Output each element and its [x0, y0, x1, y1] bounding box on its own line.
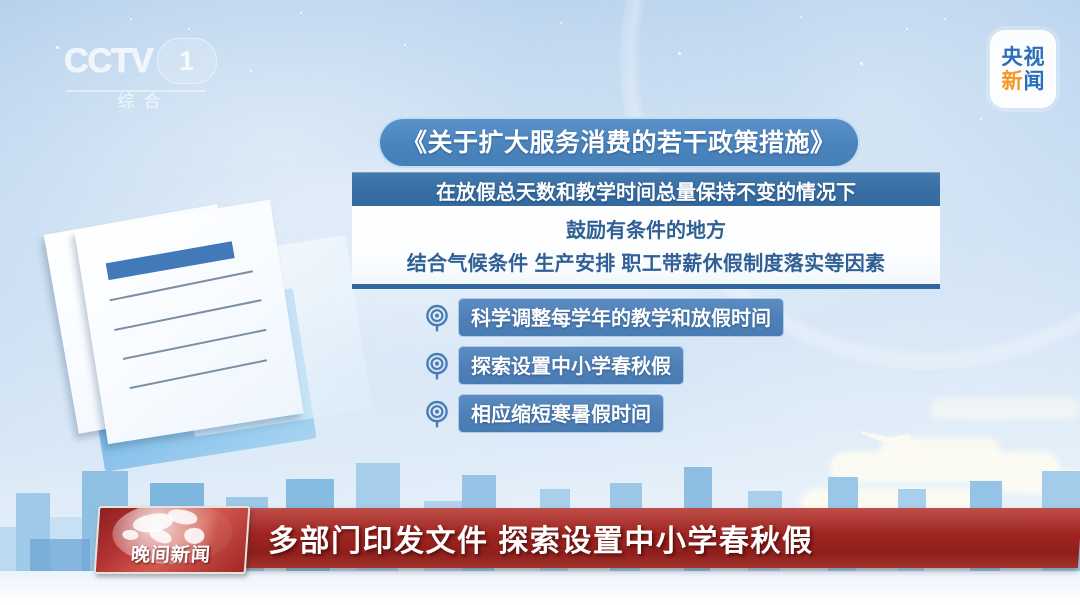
- sparkle: [678, 52, 681, 55]
- body-line-2: 结合气候条件 生产安排 职工带薪休假制度落实等因素: [407, 247, 886, 276]
- badge-char-wen: 闻: [1024, 70, 1045, 93]
- sparkle: [860, 62, 863, 65]
- sparkle: [800, 16, 802, 18]
- sparkle: [980, 118, 982, 120]
- cctv-news-badge: 央 视 新 闻: [990, 30, 1056, 108]
- policy-bullet-list: 科学调整每学年的教学和放假时间 探索设置中小学春秋假 相应缩短寒暑假时间: [424, 298, 784, 433]
- sparkle: [250, 70, 252, 72]
- badge-char-yang: 央: [1002, 46, 1023, 69]
- location-target-icon: [424, 352, 450, 380]
- sparkle: [56, 46, 59, 49]
- broadcast-frame: CCTV 1 综合 央 视 新 闻 《关于扩大服务消费的若干政策措施》 在放假总…: [0, 0, 1080, 605]
- sparkle: [944, 18, 946, 20]
- condition-header-band: 在放假总天数和教学时间总量保持不变的情况下: [352, 172, 940, 207]
- sparkle: [188, 28, 190, 30]
- document-title-bar: [106, 241, 235, 280]
- lower-third: 多部门印发文件 探索设置中小学春秋假 晚间新闻: [0, 506, 1080, 572]
- cctv1-channel-logo: CCTV 1 综合: [64, 38, 244, 112]
- headline-text: 多部门印发文件 探索设置中小学春秋假: [268, 508, 1068, 568]
- sparkle: [404, 44, 406, 46]
- sparkle: [130, 18, 132, 20]
- ground-strip: [0, 571, 1080, 605]
- body-line-1: 鼓励有条件的地方: [566, 214, 726, 243]
- paper-sheet-front: [74, 200, 303, 444]
- program-name: 晚间新闻: [96, 540, 246, 567]
- cctv-channel-number: 1: [157, 38, 217, 84]
- list-item: 探索设置中小学春秋假: [424, 346, 784, 385]
- bullet-text: 探索设置中小学春秋假: [458, 346, 684, 385]
- list-item: 科学调整每学年的教学和放假时间: [424, 298, 784, 337]
- policy-document-title: 《关于扩大服务消费的若干政策措施》: [378, 117, 860, 168]
- program-logo: 晚间新闻: [94, 506, 251, 574]
- document-text-line: [123, 329, 266, 360]
- sparkle: [906, 28, 908, 30]
- cctv-underline: [66, 90, 206, 92]
- location-target-icon: [424, 304, 450, 332]
- bullet-text: 相应缩短寒暑假时间: [458, 394, 664, 433]
- condition-body-panel: 鼓励有条件的地方 结合气候条件 生产安排 职工带薪休假制度落实等因素: [352, 206, 940, 289]
- sparkle: [300, 12, 302, 14]
- document-stack-illustration: [52, 212, 372, 482]
- badge-char-xin: 新: [1002, 70, 1023, 93]
- document-text-line: [114, 299, 261, 331]
- bullet-text: 科学调整每学年的教学和放假时间: [458, 298, 784, 337]
- globe-landmass: [122, 530, 139, 540]
- badge-char-shi: 视: [1024, 46, 1045, 69]
- document-text-line: [129, 359, 267, 389]
- sparkle: [560, 22, 562, 24]
- location-target-icon: [424, 400, 450, 428]
- cctv-wordmark: CCTV: [64, 38, 153, 84]
- list-item: 相应缩短寒暑假时间: [424, 394, 784, 433]
